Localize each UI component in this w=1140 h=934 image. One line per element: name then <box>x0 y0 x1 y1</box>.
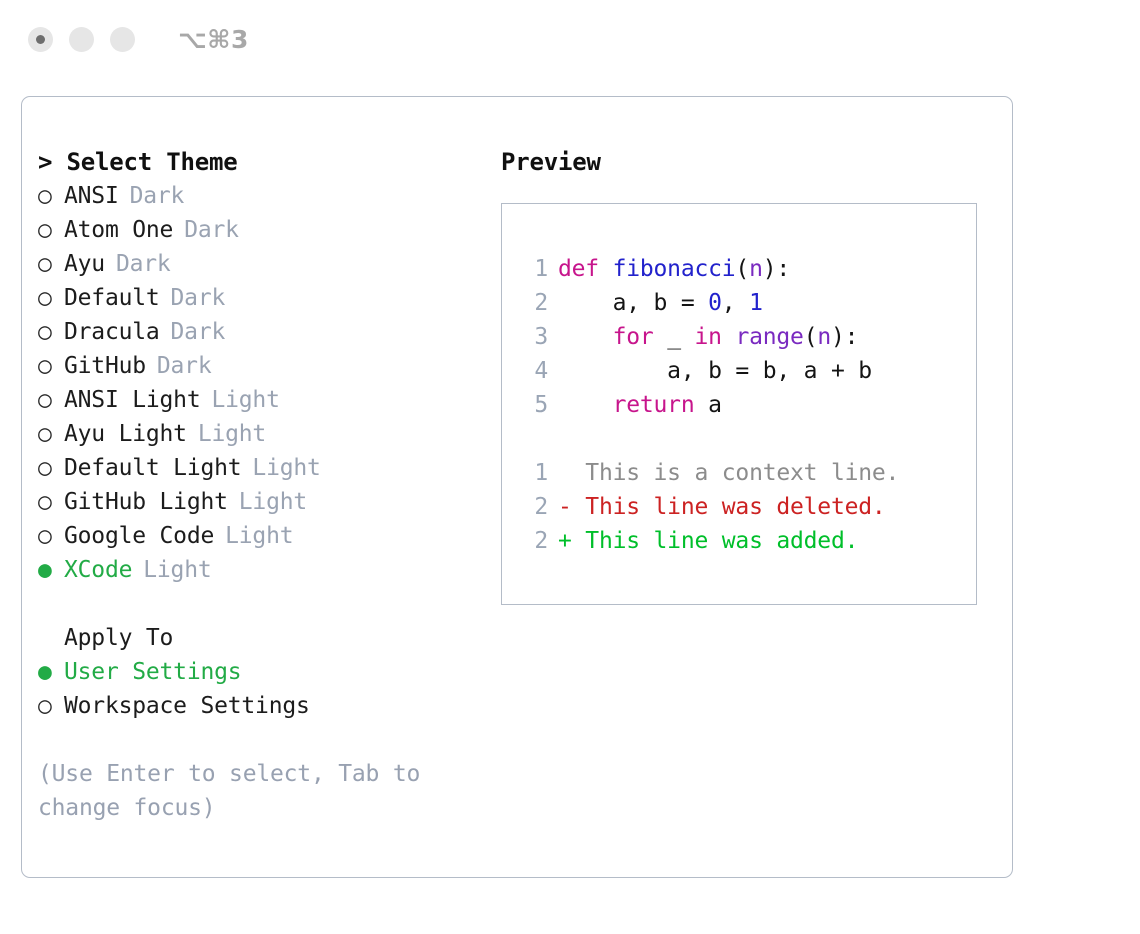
preview-box: 1def fibonacci(n):2 a, b = 0, 13 for _ i… <box>501 203 977 605</box>
theme-variant-label: Dark <box>184 213 239 247</box>
code-token: ): <box>763 256 790 282</box>
theme-variant-label: Dark <box>116 247 171 281</box>
app-window: ⌥⌘3 > Select Theme ○ANSIDark○Atom OneDar… <box>0 0 1140 934</box>
theme-list-item[interactable]: ○AyuDark <box>38 247 492 281</box>
diff-sample: 1 This is a context line.2- This line wa… <box>520 456 976 558</box>
keyboard-shortcut-label: ⌥⌘3 <box>178 25 249 54</box>
theme-variant-label: Dark <box>171 315 226 349</box>
code-token: range <box>735 324 803 350</box>
code-token: in <box>695 324 722 350</box>
code-line: 3 for _ in range(n): <box>520 320 976 354</box>
apply-to-label: Workspace Settings <box>64 689 310 723</box>
theme-variant-label: Dark <box>130 179 185 213</box>
diff-line-number: 2 <box>520 524 548 558</box>
code-token: n <box>817 324 831 350</box>
code-line-number: 5 <box>520 388 548 422</box>
code-token: _ <box>654 324 695 350</box>
code-token: a, b = b, a + b <box>558 358 872 384</box>
theme-variant-label: Light <box>143 553 211 587</box>
diff-sign: + <box>558 528 585 554</box>
theme-list-item[interactable]: ○Atom OneDark <box>38 213 492 247</box>
apply-to-label: User Settings <box>64 655 241 689</box>
theme-list-item[interactable]: ○GitHubDark <box>38 349 492 383</box>
code-token: def <box>558 256 613 282</box>
theme-list-item[interactable]: ○Default LightLight <box>38 451 492 485</box>
theme-name: GitHub <box>64 349 146 383</box>
theme-list[interactable]: ○ANSIDark○Atom OneDark○AyuDark○DefaultDa… <box>38 179 492 587</box>
code-token: return <box>613 392 695 418</box>
title-bar: ⌥⌘3 <box>0 0 1140 78</box>
apply-to-item[interactable]: ●User Settings <box>38 655 492 689</box>
theme-list-item[interactable]: ○ANSIDark <box>38 179 492 213</box>
code-token: a, b = <box>558 290 708 316</box>
theme-list-item[interactable]: ○Google CodeLight <box>38 519 492 553</box>
theme-list-item[interactable]: ○DefaultDark <box>38 281 492 315</box>
theme-list-item[interactable]: ○Ayu LightLight <box>38 417 492 451</box>
theme-list-item[interactable]: ●XCodeLight <box>38 553 492 587</box>
theme-name: Default Light <box>64 451 241 485</box>
theme-name: ANSI Light <box>64 383 200 417</box>
theme-name: ANSI <box>64 179 119 213</box>
code-token: fibonacci <box>613 256 736 282</box>
theme-list-item[interactable]: ○ANSI LightLight <box>38 383 492 417</box>
radio-unselected-icon[interactable]: ○ <box>38 315 64 349</box>
theme-name: Default <box>64 281 160 315</box>
theme-name: XCode <box>64 553 132 587</box>
window-dot-3-icon[interactable] <box>110 27 135 52</box>
select-theme-header: > Select Theme <box>38 145 492 179</box>
radio-unselected-icon[interactable]: ○ <box>38 281 64 315</box>
theme-variant-label: Light <box>239 485 307 519</box>
keyboard-hint-text: (Use Enter to select, Tab to change focu… <box>38 757 438 825</box>
radio-unselected-icon[interactable]: ○ <box>38 485 64 519</box>
diff-text: This is a context line. <box>585 460 899 486</box>
diff-line-number: 1 <box>520 456 548 490</box>
theme-picker-panel: > Select Theme ○ANSIDark○Atom OneDark○Ay… <box>21 96 1013 878</box>
diff-line-number: 2 <box>520 490 548 524</box>
diff-line: 1 This is a context line. <box>520 456 976 490</box>
code-token: , <box>722 290 749 316</box>
code-line: 5 return a <box>520 388 976 422</box>
radio-selected-icon[interactable]: ● <box>38 553 64 587</box>
code-token <box>722 324 736 350</box>
code-line-number: 2 <box>520 286 548 320</box>
theme-variant-label: Light <box>211 383 279 417</box>
diff-line: 2- This line was deleted. <box>520 490 976 524</box>
theme-name: Dracula <box>64 315 160 349</box>
window-dot-2-icon[interactable] <box>69 27 94 52</box>
window-dot-active-inner <box>36 35 45 44</box>
code-token: ( <box>804 324 818 350</box>
preview-title: Preview <box>501 145 1012 179</box>
window-dot-active-icon[interactable] <box>28 27 53 52</box>
theme-variant-label: Light <box>198 417 266 451</box>
theme-name: Ayu Light <box>64 417 187 451</box>
radio-unselected-icon[interactable]: ○ <box>38 417 64 451</box>
code-token: ): <box>831 324 858 350</box>
code-token: 1 <box>749 290 763 316</box>
code-token: 0 <box>708 290 722 316</box>
radio-unselected-icon[interactable]: ○ <box>38 451 64 485</box>
code-token <box>558 324 613 350</box>
code-diff-spacer <box>520 422 976 456</box>
radio-unselected-icon[interactable]: ○ <box>38 179 64 213</box>
code-token <box>558 392 613 418</box>
diff-sign: - <box>558 494 585 520</box>
code-token: n <box>749 256 763 282</box>
theme-variant-label: Light <box>225 519 293 553</box>
code-line: 4 a, b = b, a + b <box>520 354 976 388</box>
radio-unselected-icon[interactable]: ○ <box>38 519 64 553</box>
theme-name: Ayu <box>64 247 105 281</box>
code-line-number: 1 <box>520 252 548 286</box>
code-token: a <box>694 392 721 418</box>
radio-unselected-icon[interactable]: ○ <box>38 349 64 383</box>
code-sample: 1def fibonacci(n):2 a, b = 0, 13 for _ i… <box>520 252 976 422</box>
apply-to-header: Apply To <box>38 621 492 655</box>
theme-list-item[interactable]: ○GitHub LightLight <box>38 485 492 519</box>
radio-selected-icon[interactable]: ● <box>38 655 64 689</box>
theme-name: GitHub Light <box>64 485 228 519</box>
theme-selection-column: > Select Theme ○ANSIDark○Atom OneDark○Ay… <box>22 97 492 877</box>
radio-unselected-icon[interactable]: ○ <box>38 689 64 723</box>
diff-text: This line was deleted. <box>585 494 885 520</box>
preview-column: Preview 1def fibonacci(n):2 a, b = 0, 13… <box>492 97 1012 877</box>
radio-unselected-icon[interactable]: ○ <box>38 383 64 417</box>
theme-variant-label: Dark <box>157 349 212 383</box>
code-line: 1def fibonacci(n): <box>520 252 976 286</box>
code-line-number: 3 <box>520 320 548 354</box>
apply-to-list[interactable]: ●User Settings○Workspace Settings <box>38 655 492 723</box>
theme-name: Google Code <box>64 519 214 553</box>
theme-variant-label: Dark <box>171 281 226 315</box>
diff-sign <box>558 460 585 486</box>
theme-name: Atom One <box>64 213 173 247</box>
radio-unselected-icon[interactable]: ○ <box>38 213 64 247</box>
apply-to-item[interactable]: ○Workspace Settings <box>38 689 492 723</box>
diff-line: 2+ This line was added. <box>520 524 976 558</box>
code-line: 2 a, b = 0, 1 <box>520 286 976 320</box>
list-spacer <box>38 587 492 621</box>
theme-list-item[interactable]: ○DraculaDark <box>38 315 492 349</box>
theme-variant-label: Light <box>252 451 320 485</box>
code-token: for <box>613 324 654 350</box>
radio-unselected-icon[interactable]: ○ <box>38 247 64 281</box>
code-line-number: 4 <box>520 354 548 388</box>
diff-text: This line was added. <box>585 528 858 554</box>
code-token: ( <box>735 256 749 282</box>
